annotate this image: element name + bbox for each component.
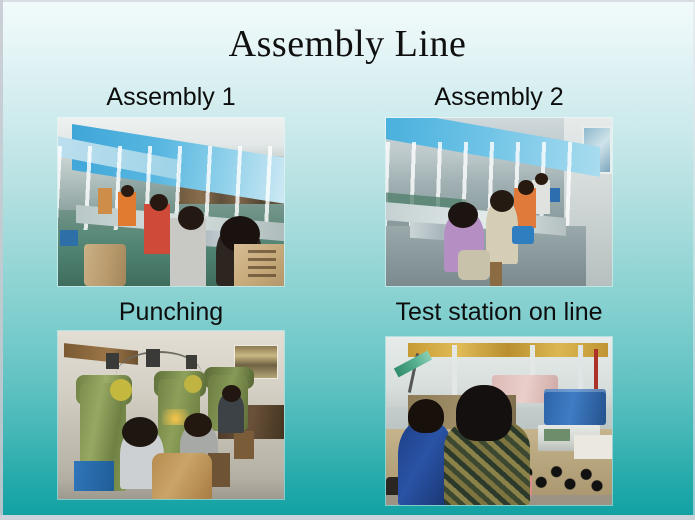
photo-assembly-2 [386,118,612,286]
worker-head [121,185,134,197]
slide-border-left [0,0,3,520]
worker-head [448,202,478,228]
worker-head [456,385,512,441]
blue-bag [512,226,534,244]
operator-head [122,417,158,447]
frame-post [452,345,457,397]
blue-bin [74,461,114,491]
worker-far [98,188,112,214]
operator-head [222,385,241,402]
wooden-barrel [84,244,126,286]
blue-crate [544,389,606,425]
electrical-box [106,353,119,369]
slide-title: Assembly Line [0,22,695,66]
worker-head [535,173,548,185]
photo-assembly-1 [58,118,284,286]
worker-orange [118,192,136,226]
photo-punching [58,331,284,499]
blue-bin [60,230,78,246]
worker-head [150,194,168,211]
presentation-slide: Assembly Line Assembly 1 Assembly 2 [0,0,695,520]
wicker-chair [152,453,212,499]
worker-head [490,190,514,212]
stool [234,431,254,459]
stool [490,262,502,286]
flywheel [110,379,132,401]
sack [458,250,490,280]
caption-punching: Punching [58,297,284,327]
electrical-box [146,349,160,367]
slide-border-bottom [0,515,695,520]
worker-head [178,206,204,230]
worker-red [144,204,170,254]
worker-head [518,180,534,195]
instrument-display [544,429,570,441]
slide-border-top [0,0,695,2]
operator-head [184,413,212,437]
caption-assembly-2: Assembly 2 [386,82,612,112]
box-label [248,250,276,282]
caption-test-station: Test station on line [371,297,627,327]
worker-head [408,399,444,433]
electrical-box [186,355,197,369]
caption-assembly-1: Assembly 1 [58,82,284,112]
flywheel [184,375,202,393]
photo-test-station [386,337,612,505]
